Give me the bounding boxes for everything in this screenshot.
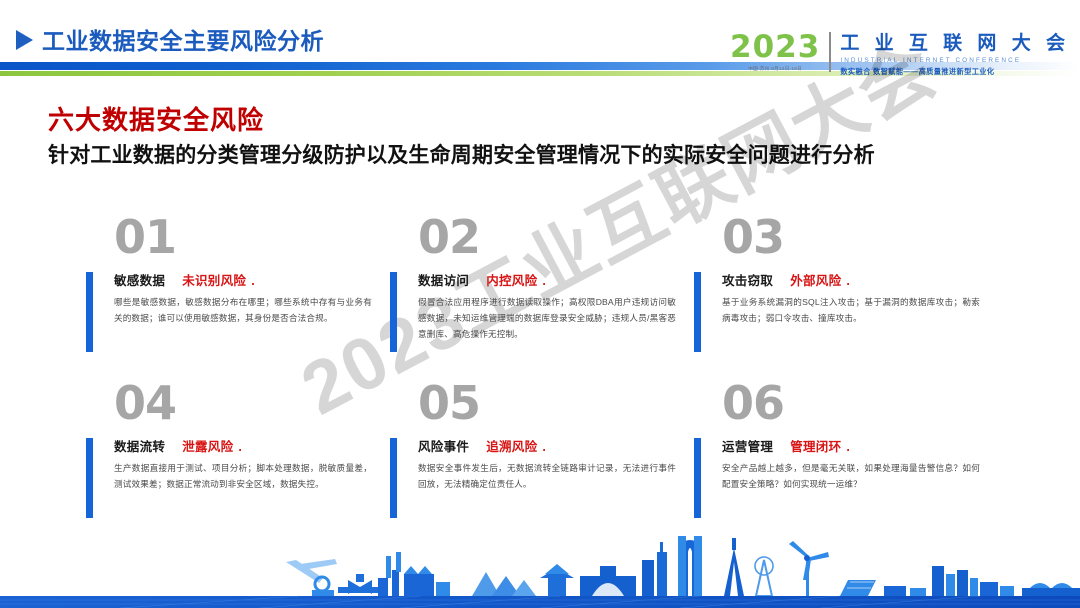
risk-card: 06 运营管理 管理闭环 . 安全产品越上越多，但是毫无关联，如果处理海量告警信… (694, 380, 998, 546)
card-risk-tag: 泄露风险 (182, 436, 233, 455)
card-accent-bar (390, 272, 397, 352)
card-accent-bar (390, 438, 397, 518)
logo-name-cn: 工 业 互 联 网 大 会 (840, 34, 1070, 53)
risk-card: 01 敏感数据 未识别风险 . 哪些是敏感数据，敏感数据分布在哪里；哪些系统中存… (86, 214, 390, 380)
card-period: . (542, 274, 545, 288)
card-body-text: 哪些是敏感数据，敏感数据分布在哪里；哪些系统中存有与业务有关的数据；谁可以使用敏… (114, 295, 372, 327)
card-body-text: 假冒合法应用程序进行数据读取操作；高权限DBA用户违规访问敏感数据，未知运维管理… (418, 295, 676, 343)
card-heading: 数据访问 内控风险 . (418, 270, 546, 289)
card-period: . (542, 440, 545, 454)
section-title: 六大数据安全风险 (48, 100, 264, 137)
card-risk-tag: 内控风险 (486, 270, 537, 289)
card-heading: 攻击窃取 外部风险 . (722, 270, 850, 289)
logo-year: 2023 (730, 32, 820, 63)
card-label: 攻击窃取 (722, 270, 773, 289)
play-triangle-icon (16, 30, 33, 50)
conference-logo: 2023 中国·苏州 8月14日-16日 工 业 互 联 网 大 会 INDUS… (730, 32, 1070, 77)
card-heading: 风险事件 追溯风险 . (418, 436, 546, 455)
card-label: 风险事件 (418, 436, 469, 455)
card-number: 01 (114, 214, 176, 260)
card-risk-tag: 追溯风险 (486, 436, 537, 455)
skyline-illustration (0, 530, 1080, 608)
card-body-text: 生产数据直接用于测试、项目分析；脚本处理数据，脱敏质量差，测试效果差；数据正常流… (114, 461, 372, 493)
page-title: 工业数据安全主要风险分析 (42, 22, 324, 56)
logo-slogan: 数实融合 数智赋能——高质量推进新型工业化 (840, 67, 1070, 77)
card-heading: 运营管理 管理闭环 . (722, 436, 850, 455)
logo-name-block: 工 业 互 联 网 大 会 INDUSTRIAL INTERNET CONFER… (840, 32, 1070, 77)
card-accent-bar (694, 438, 701, 518)
skyline-shapes (286, 536, 1080, 596)
slide-canvas: 工业数据安全主要风险分析 2023 中国·苏州 8月14日-16日 工 业 互 … (0, 0, 1080, 608)
slide-header: 工业数据安全主要风险分析 2023 中国·苏州 8月14日-16日 工 业 互 … (0, 0, 1080, 86)
risk-card: 05 风险事件 追溯风险 . 数据安全事件发生后，无数据流转全链路审计记录，无法… (390, 380, 694, 546)
risk-card: 04 数据流转 泄露风险 . 生产数据直接用于测试、项目分析；脚本处理数据，脱敏… (86, 380, 390, 546)
risk-card: 02 数据访问 内控风险 . 假冒合法应用程序进行数据读取操作；高权限DBA用户… (390, 214, 694, 380)
footer-skyline (0, 530, 1080, 608)
card-label: 运营管理 (722, 436, 773, 455)
logo-year-block: 2023 中国·苏州 8月14日-16日 (730, 32, 831, 72)
card-number: 03 (722, 214, 784, 260)
card-period: . (846, 274, 849, 288)
card-body-text: 数据安全事件发生后，无数据流转全链路审计记录，无法进行事件回放，无法精确定位责任… (418, 461, 676, 493)
risk-card-grid: 01 敏感数据 未识别风险 . 哪些是敏感数据，敏感数据分布在哪里；哪些系统中存… (86, 214, 998, 546)
card-number: 02 (418, 214, 480, 260)
card-accent-bar (86, 438, 93, 518)
card-number: 04 (114, 380, 176, 426)
card-accent-bar (694, 272, 701, 352)
card-label: 数据流转 (114, 436, 165, 455)
card-risk-tag: 未识别风险 (182, 270, 246, 289)
card-heading: 数据流转 泄露风险 . (114, 436, 242, 455)
card-period: . (251, 274, 254, 288)
card-label: 敏感数据 (114, 270, 165, 289)
card-period: . (846, 440, 849, 454)
logo-name-en: INDUSTRIAL INTERNET CONFERENCE (840, 57, 1070, 64)
card-risk-tag: 管理闭环 (790, 436, 841, 455)
header-title-row: 工业数据安全主要风险分析 (16, 22, 324, 56)
card-period: . (238, 440, 241, 454)
card-body-text: 安全产品越上越多，但是毫无关联，如果处理海量告警信息？如何配置安全策略？如何实现… (722, 461, 980, 493)
section-subtitle: 针对工业数据的分类管理分级防护以及生命周期安全管理情况下的实际安全问题进行分析 (48, 142, 1008, 170)
card-accent-bar (86, 272, 93, 352)
card-heading: 敏感数据 未识别风险 . (114, 270, 255, 289)
card-number: 05 (418, 380, 480, 426)
logo-date-location: 中国·苏州 8月14日-16日 (730, 66, 820, 72)
card-label: 数据访问 (418, 270, 469, 289)
card-risk-tag: 外部风险 (790, 270, 841, 289)
card-body-text: 基于业务系统漏洞的SQL注入攻击；基于漏洞的数据库攻击；勒索病毒攻击；弱口令攻击… (722, 295, 980, 327)
risk-card: 03 攻击窃取 外部风险 . 基于业务系统漏洞的SQL注入攻击；基于漏洞的数据库… (694, 214, 998, 380)
card-number: 06 (722, 380, 784, 426)
